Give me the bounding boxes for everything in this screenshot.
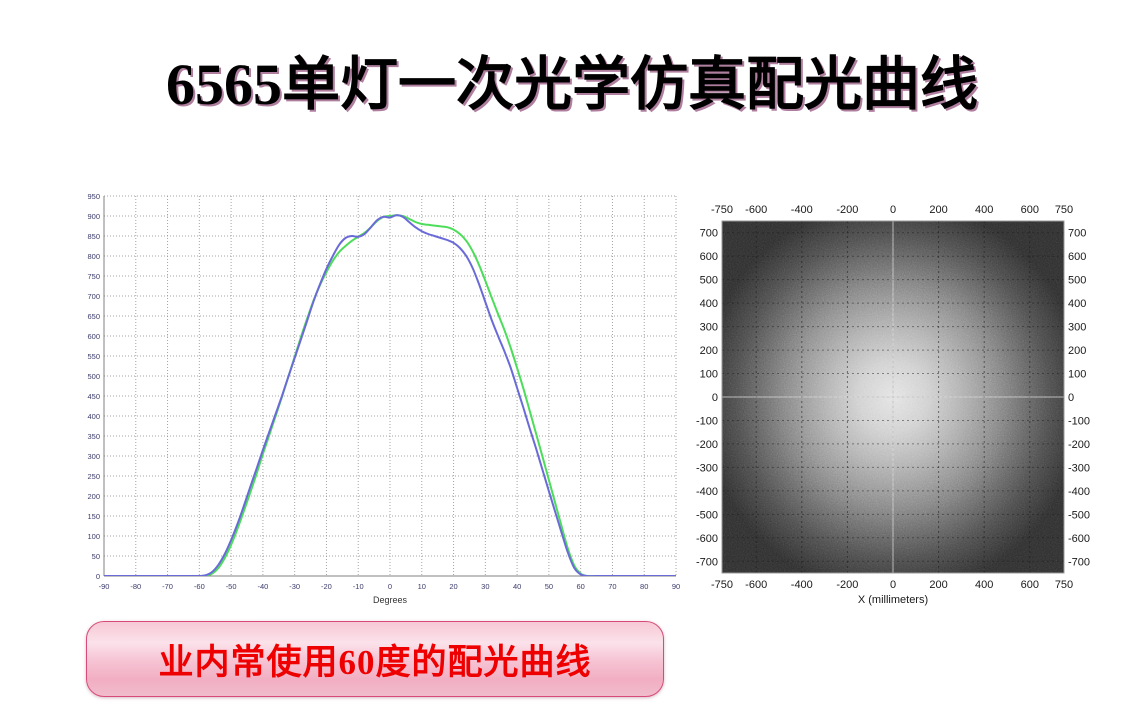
map-x-tick-label-bottom: -200 xyxy=(836,579,858,591)
x-tick-label: -60 xyxy=(194,582,205,591)
map-y-tick-label-right: 100 xyxy=(1068,369,1086,381)
y-axis-tick-labels: 0501001502002503003504004505005506006507… xyxy=(87,192,100,581)
page-title: 6565单灯一次光学仿真配光曲线 xyxy=(0,56,1144,114)
map-x-tick-label-top: 600 xyxy=(1021,204,1039,216)
map-x-tick-label-top: -400 xyxy=(791,204,813,216)
y-tick-label: 350 xyxy=(87,432,100,441)
map-x-tick-label-bottom: 400 xyxy=(975,579,993,591)
map-x-tick-label-bottom: 750 xyxy=(1055,579,1073,591)
illuminance-map-svg: -750-600-400-2000200400600750 -750-600-4… xyxy=(688,186,1108,610)
map-x-tick-label-bottom: -400 xyxy=(791,579,813,591)
x-tick-label: -20 xyxy=(321,582,332,591)
y-tick-label: 0 xyxy=(96,572,100,581)
x-tick-label: -70 xyxy=(162,582,173,591)
map-y-tick-label-right: 200 xyxy=(1068,345,1086,357)
y-tick-label: 450 xyxy=(87,392,100,401)
map-y-tick-label-right: -200 xyxy=(1068,439,1090,451)
x-axis-title: Degrees xyxy=(373,595,408,605)
intensity-curve-svg: 0501001502002503003504004505005506006507… xyxy=(60,182,688,610)
map-y-tick-label-right: 300 xyxy=(1068,322,1086,334)
map-y-tick-label-right: -400 xyxy=(1068,486,1090,498)
y-tick-label: 250 xyxy=(87,472,100,481)
intensity-curve-chart: 0501001502002503003504004505005506006507… xyxy=(60,182,688,610)
y-tick-label: 100 xyxy=(87,532,100,541)
map-y-tick-label-left: 400 xyxy=(700,298,718,310)
y-tick-label: 700 xyxy=(87,292,100,301)
map-x-tick-label-top: 750 xyxy=(1055,204,1073,216)
map-y-tick-label-left: -100 xyxy=(696,415,718,427)
map-x-tick-label-top: 0 xyxy=(890,204,896,216)
map-y-tick-label-left: 100 xyxy=(700,369,718,381)
map-y-tick-label-right: -100 xyxy=(1068,415,1090,427)
map-x-tick-label-bottom: -750 xyxy=(711,579,733,591)
map-y-tick-label-left: 300 xyxy=(700,322,718,334)
y-tick-label: 50 xyxy=(92,552,100,561)
map-y-tick-label-right: 400 xyxy=(1068,298,1086,310)
map-y-tick-label-right: 500 xyxy=(1068,275,1086,287)
y-tick-label: 600 xyxy=(87,332,100,341)
callout-text: 业内常使用60度的配光曲线 xyxy=(158,634,591,685)
map-y-axis-left-labels: 7006005004003002001000-100-200-300-400-5… xyxy=(696,228,718,569)
map-y-tick-label-left: 500 xyxy=(700,275,718,287)
y-tick-label: 950 xyxy=(87,192,100,201)
x-tick-label: 0 xyxy=(388,582,392,591)
map-x-axis-bottom-labels: -750-600-400-2000200400600750 xyxy=(711,579,1073,591)
map-y-tick-label-left: -300 xyxy=(696,462,718,474)
x-tick-label: 10 xyxy=(418,582,426,591)
y-tick-label: 550 xyxy=(87,352,100,361)
map-x-tick-label-top: -600 xyxy=(745,204,767,216)
map-y-tick-label-right: 600 xyxy=(1068,251,1086,263)
illuminance-map-chart: -750-600-400-2000200400600750 -750-600-4… xyxy=(688,186,1108,610)
x-tick-label: 60 xyxy=(576,582,584,591)
y-tick-label: 850 xyxy=(87,232,100,241)
x-tick-label: 20 xyxy=(449,582,457,591)
map-y-tick-label-left: 700 xyxy=(700,228,718,240)
map-y-tick-label-left: -400 xyxy=(696,486,718,498)
map-y-tick-label-left: -600 xyxy=(696,533,718,545)
map-x-tick-label-bottom: -600 xyxy=(745,579,767,591)
y-tick-label: 750 xyxy=(87,272,100,281)
y-tick-label: 650 xyxy=(87,312,100,321)
x-tick-label: 50 xyxy=(545,582,553,591)
y-tick-label: 200 xyxy=(87,492,100,501)
map-y-tick-label-left: 0 xyxy=(712,392,718,404)
x-tick-label: 80 xyxy=(640,582,648,591)
y-tick-label: 150 xyxy=(87,512,100,521)
x-tick-label: 40 xyxy=(513,582,521,591)
map-x-tick-label-bottom: 600 xyxy=(1021,579,1039,591)
map-y-tick-label-left: 600 xyxy=(700,251,718,263)
map-y-axis-right-labels: 7006005004003002001000-100-200-300-400-5… xyxy=(1068,228,1090,569)
y-tick-label: 400 xyxy=(87,412,100,421)
map-y-tick-label-left: -700 xyxy=(696,556,718,568)
map-y-tick-label-left: -500 xyxy=(696,509,718,521)
y-tick-label: 500 xyxy=(87,372,100,381)
x-tick-label: -80 xyxy=(130,582,141,591)
map-x-tick-label-top: -750 xyxy=(711,204,733,216)
x-tick-label: -40 xyxy=(257,582,268,591)
map-y-tick-label-right: -500 xyxy=(1068,509,1090,521)
x-tick-label: -30 xyxy=(289,582,300,591)
map-x-tick-label-top: 400 xyxy=(975,204,993,216)
map-y-tick-label-right: 0 xyxy=(1068,392,1074,404)
map-x-tick-label-top: -200 xyxy=(836,204,858,216)
map-y-tick-label-right: -600 xyxy=(1068,533,1090,545)
map-x-tick-label-bottom: 200 xyxy=(929,579,947,591)
x-tick-label: -10 xyxy=(353,582,364,591)
y-tick-label: 800 xyxy=(87,252,100,261)
y-tick-label: 900 xyxy=(87,212,100,221)
map-y-tick-label-right: -700 xyxy=(1068,556,1090,568)
map-x-axis-title: X (millimeters) xyxy=(858,594,928,606)
x-axis-tick-labels: -90-80-70-60-50-40-30-20-100102030405060… xyxy=(99,582,681,591)
map-x-tick-label-bottom: 0 xyxy=(890,579,896,591)
x-tick-label: 30 xyxy=(481,582,489,591)
map-y-tick-label-right: -300 xyxy=(1068,462,1090,474)
map-y-tick-label-left: -200 xyxy=(696,439,718,451)
y-tick-label: 300 xyxy=(87,452,100,461)
map-x-tick-label-top: 200 xyxy=(929,204,947,216)
map-y-tick-label-right: 700 xyxy=(1068,228,1086,240)
x-tick-label: 90 xyxy=(672,582,680,591)
callout-bubble: 业内常使用60度的配光曲线 xyxy=(86,621,664,697)
map-x-axis-top-labels: -750-600-400-2000200400600750 xyxy=(711,204,1073,216)
x-tick-label: -50 xyxy=(226,582,237,591)
map-y-tick-label-left: 200 xyxy=(700,345,718,357)
x-tick-label: -90 xyxy=(99,582,110,591)
x-tick-label: 70 xyxy=(608,582,616,591)
